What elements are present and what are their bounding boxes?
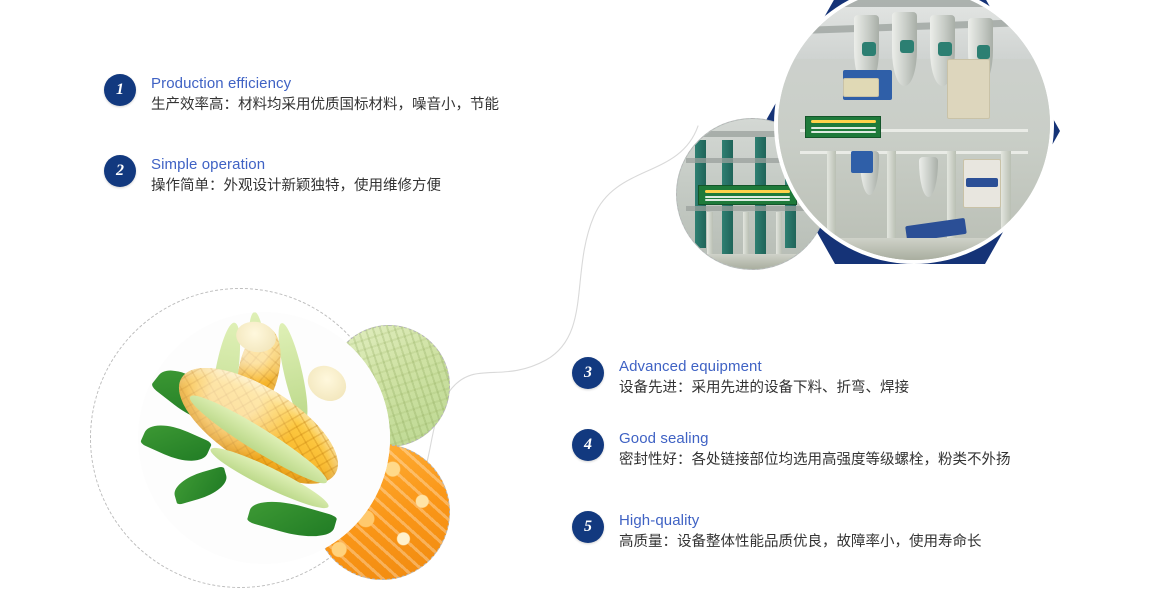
feature-item-1: 1 Production efficiency 生产效率高：材料均采用优质国标材…: [104, 74, 499, 115]
feature-badge-1: 1: [104, 74, 136, 106]
feature-title-4: Good sealing: [619, 429, 1011, 448]
feature-item-2: 2 Simple operation 操作简单：外观设计新颖独特，使用维修方便: [104, 155, 441, 196]
feature-desc-2: 操作简单：外观设计新颖独特，使用维修方便: [151, 176, 441, 196]
machinery-photo-main: [778, 0, 1050, 260]
feature-item-3: 3 Advanced equipment 设备先进：采用先进的设备下料、折弯、焊…: [572, 357, 909, 398]
feature-desc-4: 密封性好：各处链接部位均选用高强度等级螺栓，粉类不外扬: [619, 450, 1011, 470]
feature-text-3: Advanced equipment 设备先进：采用先进的设备下料、折弯、焊接: [619, 357, 909, 398]
feature-title-5: High-quality: [619, 511, 982, 530]
feature-title-3: Advanced equipment: [619, 357, 909, 376]
feature-badge-3: 3: [572, 357, 604, 389]
feature-badge-5: 5: [572, 511, 604, 543]
feature-desc-1: 生产效率高：材料均采用优质国标材料，噪音小，节能: [151, 95, 499, 115]
machinery-image-group: [660, 0, 1080, 278]
corn-cob-photo: [138, 312, 390, 564]
feature-badge-4: 4: [572, 429, 604, 461]
feature-badge-2: 2: [104, 155, 136, 187]
feature-text-2: Simple operation 操作简单：外观设计新颖独特，使用维修方便: [151, 155, 441, 196]
feature-item-5: 5 High-quality 高质量：设备整体性能品质优良，故障率小，使用寿命长: [572, 511, 982, 552]
feature-text-1: Production efficiency 生产效率高：材料均采用优质国标材料，…: [151, 74, 499, 115]
feature-item-4: 4 Good sealing 密封性好：各处链接部位均选用高强度等级螺栓，粉类不…: [572, 429, 1011, 470]
feature-desc-5: 高质量：设备整体性能品质优良，故障率小，使用寿命长: [619, 532, 982, 552]
corn-image-group: [88, 282, 463, 602]
feature-title-1: Production efficiency: [151, 74, 499, 93]
feature-text-4: Good sealing 密封性好：各处链接部位均选用高强度等级螺栓，粉类不外扬: [619, 429, 1011, 470]
feature-text-5: High-quality 高质量：设备整体性能品质优良，故障率小，使用寿命长: [619, 511, 982, 552]
feature-title-2: Simple operation: [151, 155, 441, 174]
feature-desc-3: 设备先进：采用先进的设备下料、折弯、焊接: [619, 378, 909, 398]
